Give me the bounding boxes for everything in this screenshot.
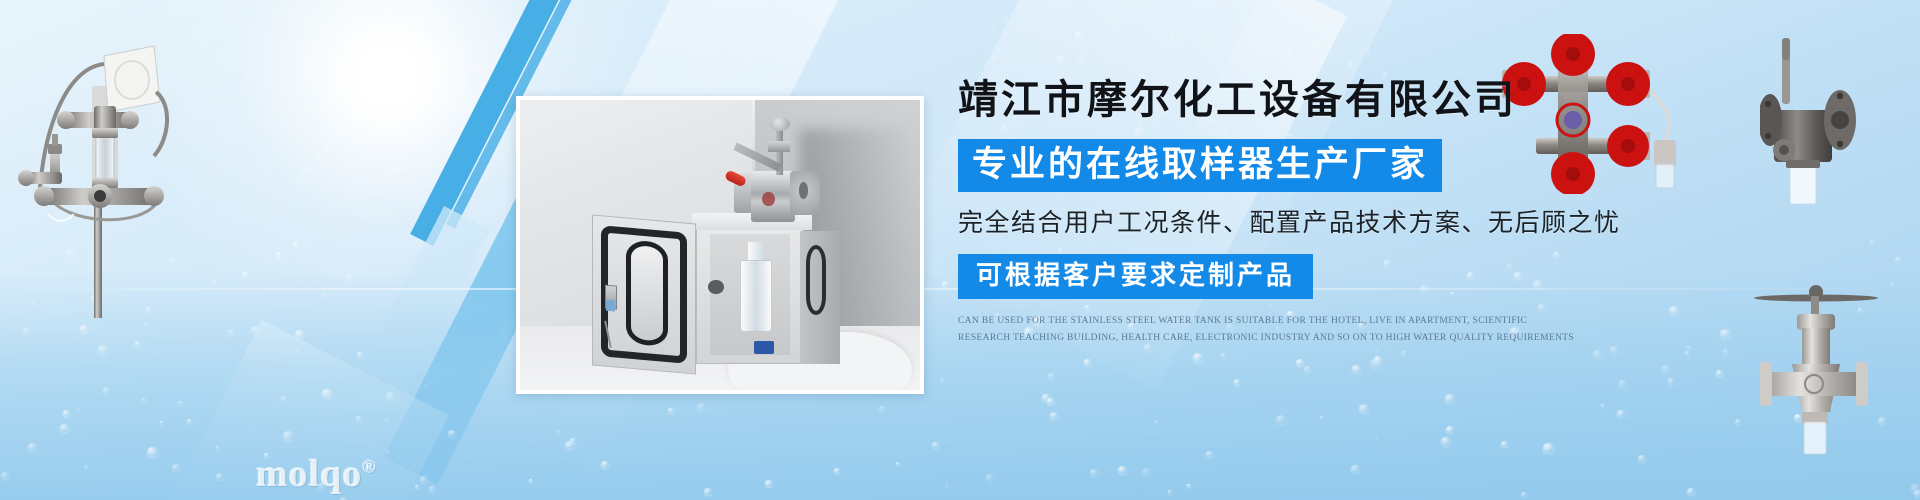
bottle-cap [754, 341, 774, 354]
online-sampler-assembly-icon [8, 28, 188, 318]
door-window [626, 239, 669, 347]
headline-badge: 专业的在线取样器生产厂家 [958, 139, 1442, 192]
sun-ray [388, 76, 390, 166]
water-droplet [1870, 240, 1874, 243]
sub-headline: 完全结合用户工况条件、配置产品技术方案、无后顾之忧 [958, 207, 1738, 240]
water-droplet [1005, 17, 1008, 20]
center-product-photo [516, 96, 924, 394]
water-droplet [1895, 257, 1901, 262]
lever-valve-flanged-icon [1760, 24, 1910, 204]
valve-logo-icon [762, 192, 774, 206]
banner-text-block: 靖江市摩尔化工设备有限公司 专业的在线取样器生产厂家 完全结合用户工况条件、配置… [958, 74, 1738, 346]
right-product-render-2 [1760, 24, 1910, 204]
sample-bottle [740, 260, 772, 333]
company-name: 靖江市摩尔化工设备有限公司 [958, 74, 1738, 125]
english-description: CAN BE USED FOR THE STAINLESS STEEL WATE… [958, 313, 1578, 346]
left-product-render [8, 28, 188, 318]
promotional-banner: 靖江市摩尔化工设备有限公司 专业的在线取样器生产厂家 完全结合用户工况条件、配置… [0, 0, 1920, 500]
cabinet-door [592, 214, 696, 374]
cabinet-handle [806, 245, 826, 315]
watermark-logo: molqo® [256, 452, 377, 496]
right-product-render-3 [1752, 272, 1917, 457]
custom-product-badge[interactable]: 可根据客户要求定制产品 [958, 254, 1313, 299]
registered-mark-icon: ® [362, 456, 376, 476]
watermark-text: molqo [256, 453, 362, 495]
water-droplet [992, 26, 996, 29]
gate-valve-sampler-icon [1752, 272, 1917, 457]
sampling-valve [728, 117, 832, 233]
